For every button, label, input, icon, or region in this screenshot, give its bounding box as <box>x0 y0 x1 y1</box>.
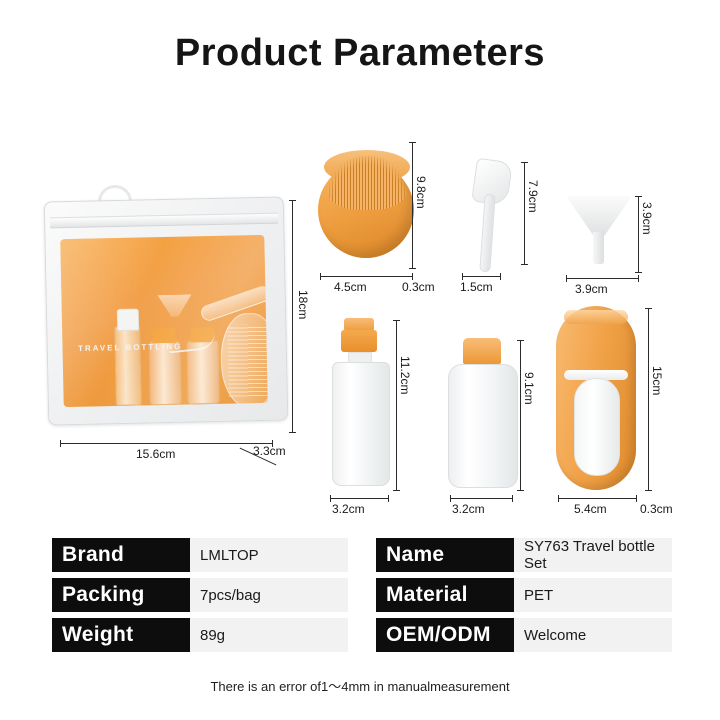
round-height-tick-bottom <box>517 490 524 491</box>
pouch-content-spray-bottle <box>114 326 142 407</box>
pouch-width-line <box>60 443 272 444</box>
capsule-width-tick-left <box>558 495 559 502</box>
spatula-width-tick-right <box>500 273 501 280</box>
spec-value-material: PET <box>514 578 672 612</box>
spray-width-tick-left <box>330 495 331 502</box>
spatula-height-tick-bottom <box>521 264 528 265</box>
spray-height-label: 11.2cm <box>398 356 412 394</box>
funnel-tube <box>593 232 604 264</box>
comb-width-label: 4.5cm <box>334 280 367 294</box>
pouch-height-line <box>292 200 293 432</box>
spray-width-tick-right <box>388 495 389 502</box>
capsule-height-tick-bottom <box>645 490 652 491</box>
page-title: Product Parameters <box>0 32 720 75</box>
pouch-content-spatula <box>199 284 268 323</box>
round-height-label: 9.1cm <box>522 372 536 405</box>
measurement-note: There is an error of1～4mm in manualmeasu… <box>0 676 720 695</box>
pouch-width-tick-left <box>60 440 61 447</box>
comb-height-tick-bottom <box>409 268 416 269</box>
round-bottle-cap <box>463 338 501 364</box>
spatula-width-label: 1.5cm <box>460 280 493 294</box>
folding-cup-window <box>574 378 620 476</box>
spec-table: Brand LMLTOP Packing 7pcs/bag Weight 89g… <box>52 538 672 664</box>
funnel-width-tick-left <box>566 275 567 282</box>
product-image-folding-cup <box>556 306 636 496</box>
product-image-pouch: TRAVEL BOTTLING <box>40 185 290 435</box>
product-image-round-bottle <box>448 338 518 490</box>
pouch-width-label: 15.6cm <box>136 447 175 461</box>
spray-body <box>332 362 390 486</box>
spatula-height-line <box>524 162 525 264</box>
spec-key-brand: Brand <box>52 538 190 572</box>
pouch-height-tick-top <box>289 200 296 201</box>
spec-row-name: Name SY763 Travel bottle Set <box>376 538 672 572</box>
product-image-spray-bottle <box>330 318 396 490</box>
funnel-height-tick-bottom <box>635 272 642 273</box>
pouch-height-label: 18cm <box>296 290 310 319</box>
spec-row-weight: Weight 89g <box>52 618 348 652</box>
spec-value-name: SY763 Travel bottle Set <box>514 538 672 572</box>
funnel-cone <box>566 196 632 236</box>
funnel-height-label: 3.9cm <box>640 202 654 235</box>
funnel-height-line <box>638 196 639 272</box>
spray-height-line <box>396 320 397 490</box>
comb-height-label: 9.8cm <box>414 176 428 209</box>
comb-width-tick-left <box>320 273 321 280</box>
spec-row-brand: Brand LMLTOP <box>52 538 348 572</box>
comb-height-tick-top <box>409 142 416 143</box>
comb-thickness-label: 0.3cm <box>402 280 435 294</box>
spec-key-packing: Packing <box>52 578 190 612</box>
pouch-content-funnel <box>157 294 191 317</box>
spatula-width-tick-left <box>462 273 463 280</box>
funnel-height-tick-top <box>635 196 642 197</box>
spec-value-weight: 89g <box>190 618 348 652</box>
pouch-height-tick-bottom <box>289 432 296 433</box>
product-image-spatula <box>462 160 516 276</box>
spatula-height-label: 7.9cm <box>526 180 540 213</box>
round-width-tick-left <box>450 495 451 502</box>
capsule-thickness-label: 0.3cm <box>640 502 673 516</box>
pouch-content-comb <box>220 313 268 408</box>
capsule-width-label: 5.4cm <box>574 502 607 516</box>
spatula-handle <box>479 194 495 273</box>
product-image-comb <box>318 140 414 268</box>
product-image-funnel <box>566 196 632 272</box>
round-width-tick-right <box>512 495 513 502</box>
spray-width-label: 3.2cm <box>332 502 365 516</box>
round-width-line <box>450 498 512 499</box>
pouch-depth-label: 3.3cm <box>253 444 286 458</box>
capsule-width-line <box>558 498 636 499</box>
spec-key-name: Name <box>376 538 514 572</box>
spatula-height-tick-top <box>521 162 528 163</box>
spray-nozzle <box>344 318 374 330</box>
round-width-label: 3.2cm <box>452 502 485 516</box>
capsule-width-tick-right <box>636 495 637 502</box>
funnel-width-label: 3.9cm <box>575 282 608 296</box>
spec-value-oem-odm: Welcome <box>514 618 672 652</box>
folding-cup-lid <box>564 310 628 324</box>
spec-column-left: Brand LMLTOP Packing 7pcs/bag Weight 89g <box>52 538 348 658</box>
round-height-tick-top <box>517 340 524 341</box>
comb-height-line <box>412 142 413 268</box>
spray-width-line <box>330 498 388 499</box>
spec-key-weight: Weight <box>52 618 190 652</box>
spec-row-oem-odm: OEM/ODM Welcome <box>376 618 672 652</box>
capsule-height-label: 15cm <box>650 366 664 395</box>
pouch-inner-orange-panel <box>60 235 267 407</box>
spec-column-right: Name SY763 Travel bottle Set Material PE… <box>376 538 672 658</box>
spec-key-material: Material <box>376 578 514 612</box>
spec-value-packing: 7pcs/bag <box>190 578 348 612</box>
spray-height-tick-bottom <box>393 490 400 491</box>
capsule-height-line <box>648 308 649 490</box>
capsule-height-tick-top <box>645 308 652 309</box>
round-bottle-body <box>448 364 518 488</box>
spec-row-packing: Packing 7pcs/bag <box>52 578 348 612</box>
spray-height-tick-top <box>393 320 400 321</box>
spec-row-material: Material PET <box>376 578 672 612</box>
spray-pump-collar <box>341 330 377 352</box>
round-height-line <box>520 340 521 490</box>
funnel-width-tick-right <box>638 275 639 282</box>
comb-width-line <box>320 276 412 277</box>
comb-teeth <box>326 156 408 210</box>
comb-width-tick-right <box>412 273 413 280</box>
spatula-width-line <box>462 276 500 277</box>
funnel-width-line <box>566 278 638 279</box>
spec-key-oem-odm: OEM/ODM <box>376 618 514 652</box>
spec-value-brand: LMLTOP <box>190 538 348 572</box>
